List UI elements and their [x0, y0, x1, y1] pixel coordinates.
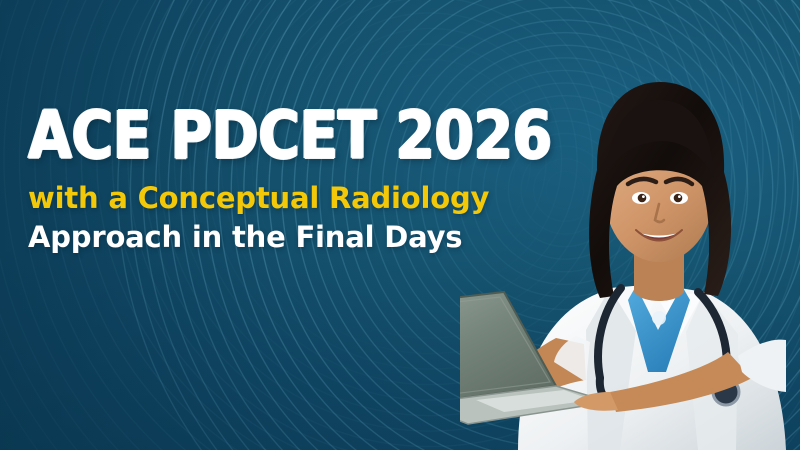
promo-banner: ACE PDCET 2026 with a Conceptual Radiolo…: [0, 0, 800, 450]
subtitle-line-1: with a Conceptual Radiology: [28, 181, 568, 216]
subtitle-line-2: Approach in the Final Days: [28, 220, 568, 255]
page-title: ACE PDCET 2026: [28, 104, 492, 167]
banner-copy: ACE PDCET 2026 with a Conceptual Radiolo…: [28, 104, 568, 255]
